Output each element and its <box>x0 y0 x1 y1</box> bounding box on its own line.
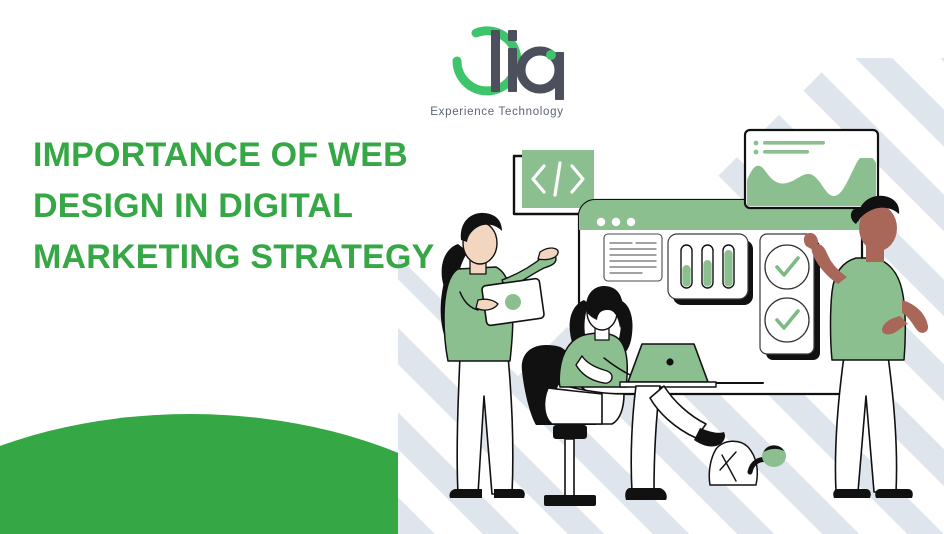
page-title: IMPORTANCE OF WEB DESIGN IN DIGITAL MARK… <box>33 130 463 283</box>
brand-tagline: Experience Technology <box>409 106 585 118</box>
checklist-card <box>760 234 820 360</box>
sliders-card <box>668 234 753 305</box>
brand-logo[interactable]: Experience Technology <box>409 22 585 122</box>
logo-mark <box>409 22 585 100</box>
text-lines-card <box>604 234 662 281</box>
slider-bar <box>723 245 734 288</box>
slider-bar <box>681 245 692 288</box>
check-circle <box>765 245 809 289</box>
code-card <box>514 150 594 214</box>
blog-banner: Experience Technology IMPORTANCE OF WEB … <box>0 0 944 534</box>
check-circle <box>765 298 809 342</box>
slider-bar <box>702 245 713 288</box>
area-chart-card <box>745 130 878 208</box>
potted-plant <box>709 441 786 485</box>
